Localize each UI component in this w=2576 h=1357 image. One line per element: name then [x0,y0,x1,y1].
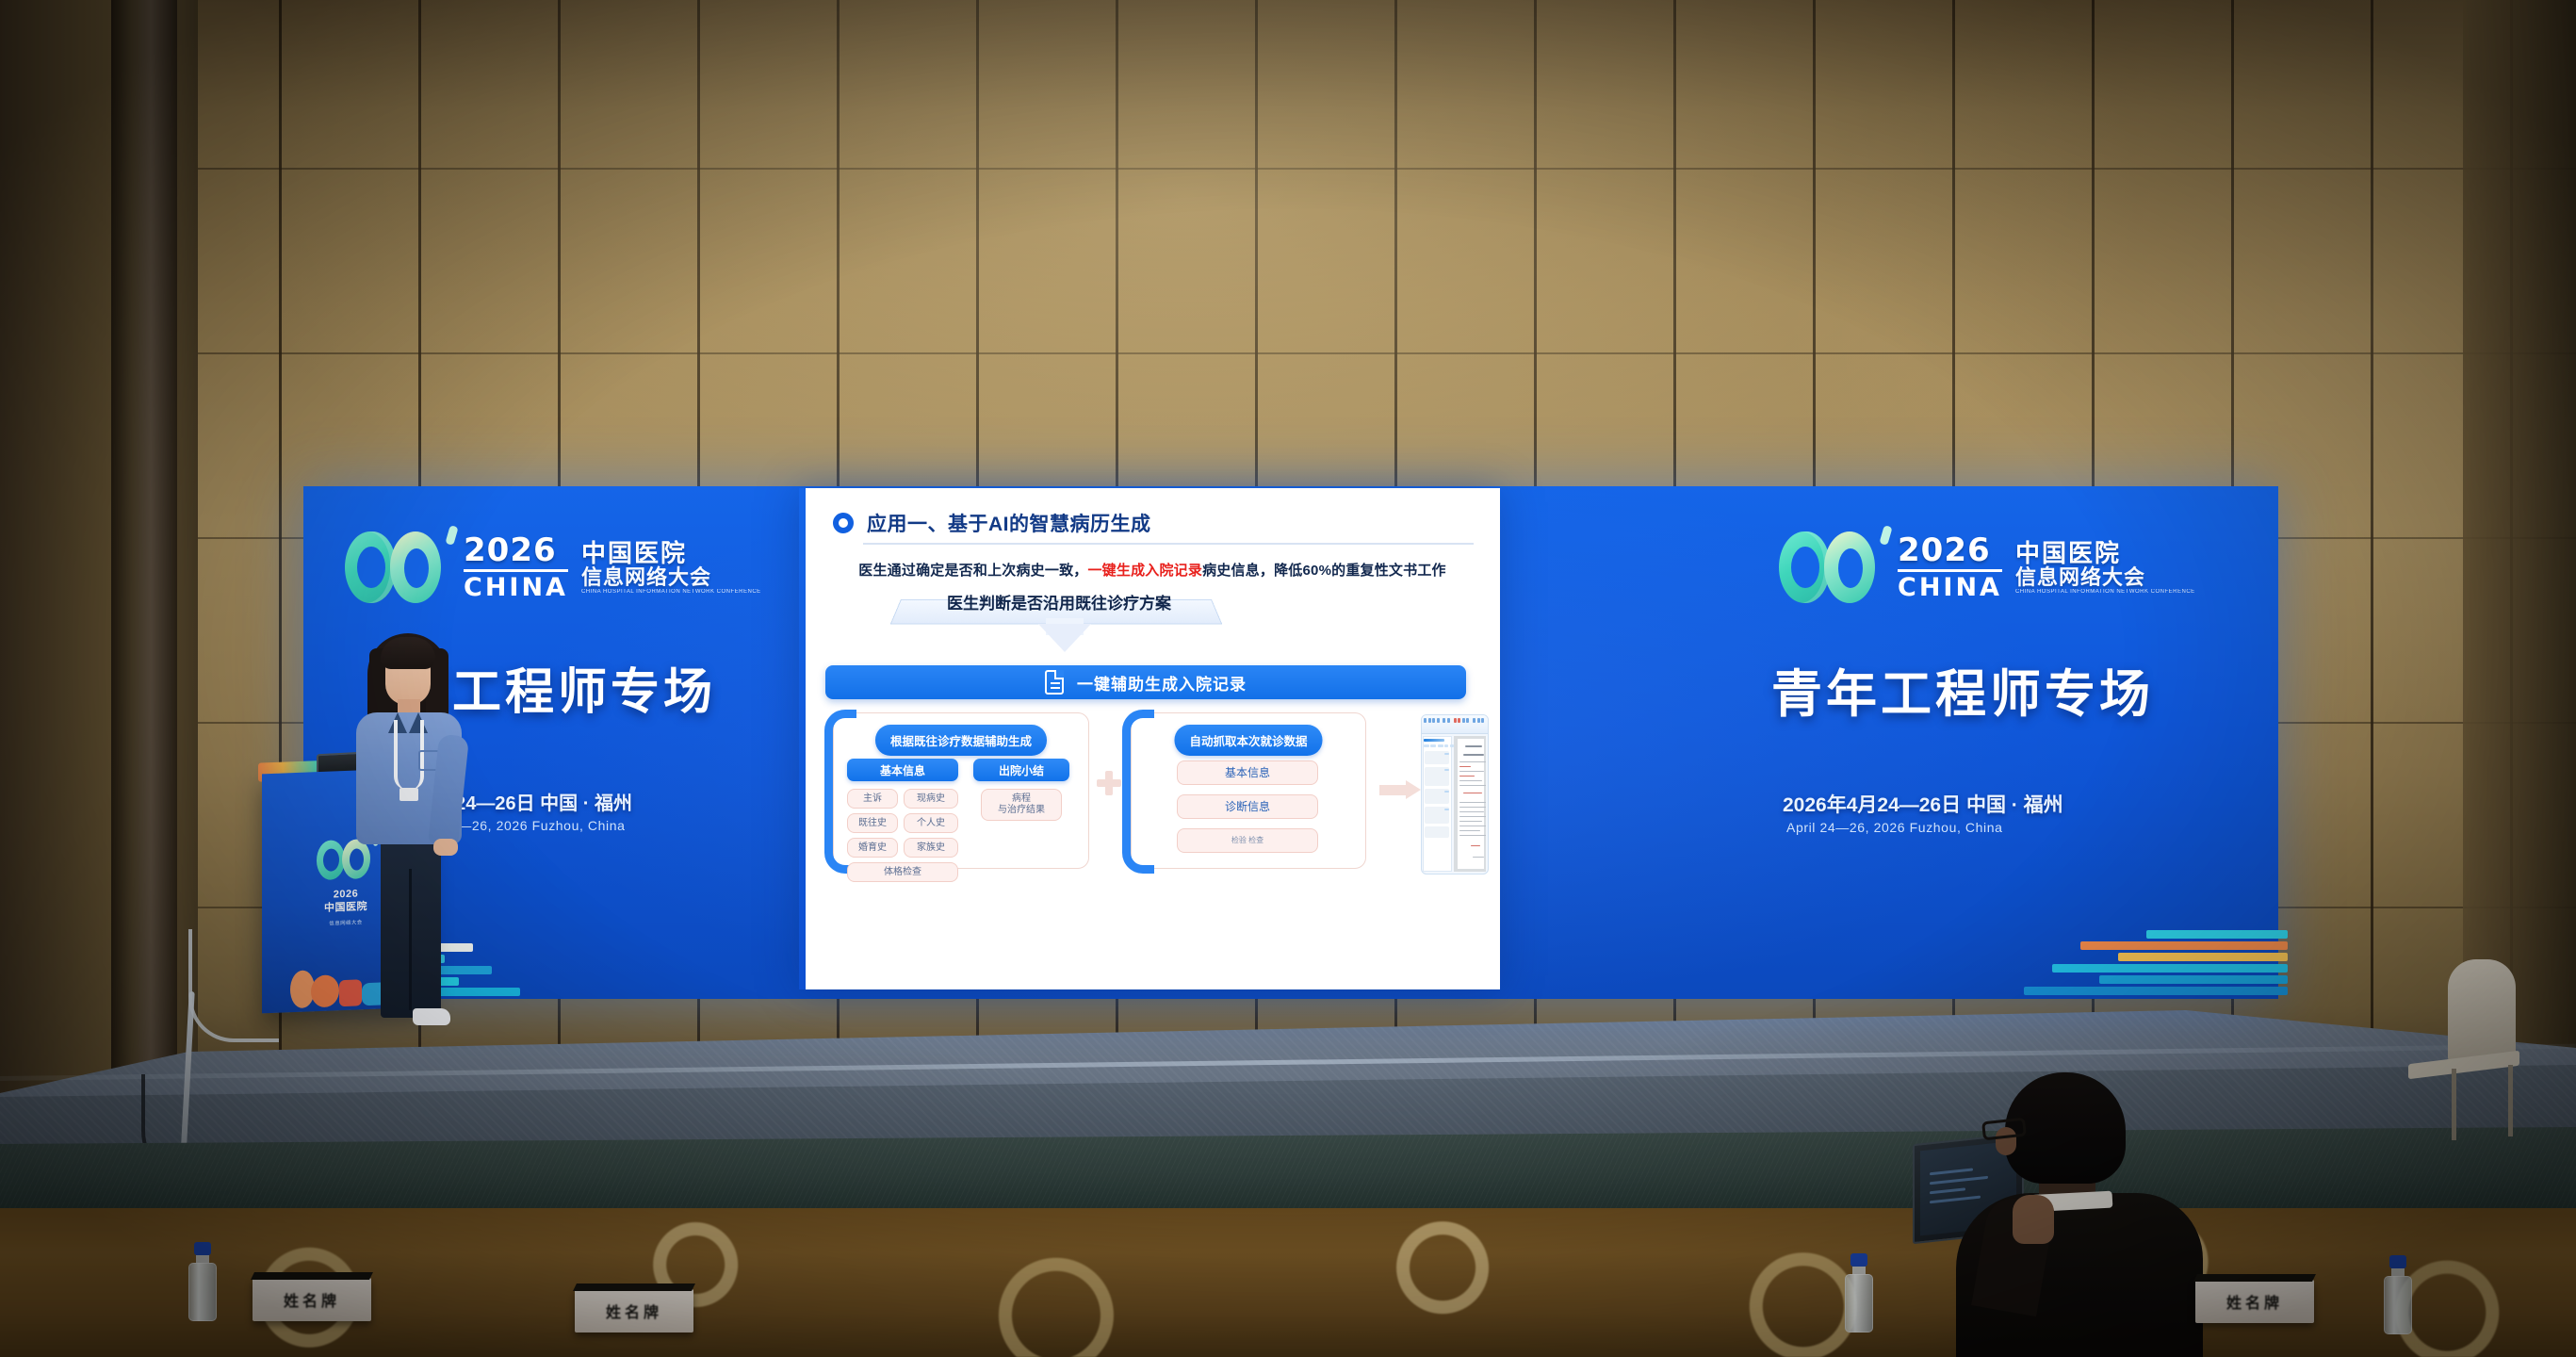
banner-right-date-en: April 24—26, 2026 Fuzhou, China [1786,820,2003,835]
item-lab-and-exam: 检验 检查 [1177,828,1318,853]
item-past-history: 既往史 [847,813,898,833]
subtitle-part-2: 病史信息，降低60%的重复性文书工作 [1202,563,1446,579]
bullet-ring-icon [833,513,854,533]
presentation-slide: 应用一、基于AI的智慧病历生成 医生通过确定是否和上次病史一致，一键生成入院记录… [799,488,1500,989]
screenshot-progress-bar [1424,739,1444,742]
presenter-hair-top [381,637,435,669]
presenter-hand [433,839,458,856]
item-present-illness: 现病史 [904,789,958,809]
card-historical-data: 根据既往诊疗数据辅助生成 基本信息 出院小结 主诉 现病史 既往史 个人史 婚育… [833,712,1089,869]
item-physical-exam: 体格检查 [847,862,958,882]
logo-cn-line3: CHINA HOSPITAL INFORMATION NETWORK CONFE… [2015,589,2195,595]
logo-country: CHINA [1898,569,2002,600]
item-marital-history: 婚育史 [847,838,898,858]
subtitle-highlight: 一键生成入院记录 [1087,563,1202,579]
logo-cn-line2: 信息网络大会 [581,566,761,589]
logo-year-block: 2026 CHINA [464,534,568,600]
decision-label: 医生判断是否沿用既往诊疗方案 [889,590,1229,613]
screenshot-toolbar [1422,715,1488,734]
card-a-title: 根据既往诊疗数据辅助生成 [875,725,1047,756]
subtitle-part-1: 医生通过确定是否和上次病史一致， [858,563,1087,579]
logo-year: 2026 [1898,534,2002,566]
banner-right-session-title: 青年工程师专场 [1771,652,2154,727]
item-course-and-outcome: 病程 与治疗结果 [981,789,1062,821]
logo-chinese-block: 中国医院 信息网络大会 CHINA HOSPITAL INFORMATION N… [581,540,761,595]
card-b-title: 自动抓取本次就诊数据 [1174,725,1322,756]
item-basic-info: 基本信息 [1177,760,1318,785]
flow-arrow-icon [1379,780,1421,799]
group-heading-basic-info: 基本信息 [847,759,958,781]
screenshot-message-5 [1425,826,1449,838]
attendee-hand [2013,1195,2054,1244]
logo-cn-line1: 中国医院 [581,540,761,566]
document-icon [1045,670,1064,695]
doc-title-line [1465,745,1482,747]
water-bottle [1845,1253,1873,1332]
name-card-text: 姓名牌 [284,1288,340,1311]
wall-right-dark-section [2463,0,2576,1093]
name-card: 姓名牌 [575,1289,693,1332]
water-bottle [2384,1255,2412,1334]
seated-attendee [1922,1065,2214,1357]
banner-right: 2026 CHINA 中国医院 信息网络大会 CHINA HOSPITAL IN… [1717,486,2278,999]
presenter-leg-split [409,869,412,1010]
slide-accent-bar [799,488,806,989]
logo-cn-line2: 信息网络大会 [2015,566,2195,589]
slide-title-rule [863,543,1474,545]
wall-pillar [111,0,177,1093]
screenshot-document-page [1458,739,1484,869]
logo-30-icon [345,526,450,609]
item-chief-complaint: 主诉 [847,789,898,809]
slide-header: 应用一、基于AI的智慧病历生成 [833,509,1151,537]
logo-country: CHINA [464,569,568,600]
name-card: 姓名牌 [2195,1280,2314,1323]
name-card: 姓名牌 [253,1278,371,1321]
banner-right-date-cn: 2026年4月24—26日 中国 · 福州 [1783,790,2063,818]
logo-30-icon [1779,526,1884,609]
item-personal-history: 个人史 [904,813,958,833]
name-card-text: 姓名牌 [606,1300,662,1322]
presenter-shoe [413,1008,450,1025]
cta-generate-record[interactable]: 一键辅助生成入院记录 [825,665,1466,699]
water-bottle [188,1242,217,1321]
toolbar-icon-group [1424,718,1489,723]
logo-cn-line1: 中国医院 [2015,540,2195,566]
logo-year-block: 2026 CHINA [1898,534,2002,600]
slide-subtitle: 医生通过确定是否和上次病史一致，一键生成入院记录病史信息，降低60%的重复性文书… [827,560,1477,580]
logo-cn-line3: CHINA HOSPITAL INFORMATION NETWORK CONFE… [581,589,761,595]
plus-connector-icon [1097,771,1121,795]
logo-year: 2026 [464,534,568,566]
conference-logo-left: 2026 CHINA 中国医院 信息网络大会 CHINA HOSPITAL IN… [345,526,761,609]
folding-chair [2408,959,2521,1129]
presenter-person [347,633,469,1037]
conference-logo-right: 2026 CHINA 中国医院 信息网络大会 CHINA HOSPITAL IN… [1779,526,2195,609]
software-screenshot-mock [1421,714,1489,875]
decision-arrow-icon [1038,624,1091,652]
card-current-visit-data: 自动抓取本次就诊数据 基本信息 诊断信息 检验 检查 [1131,712,1366,869]
podium-mic-arm [188,929,279,1042]
item-diagnosis-info: 诊断信息 [1177,794,1318,819]
conference-photo-scene: 2026 CHINA 中国医院 信息网络大会 CHINA HOSPITAL IN… [0,0,2576,1357]
logo-chinese-block: 中国医院 信息网络大会 CHINA HOSPITAL INFORMATION N… [2015,540,2195,595]
group-heading-discharge-summary: 出院小结 [973,759,1069,781]
led-stripes-right [1717,924,2278,999]
item-family-history: 家族史 [904,838,958,858]
presenter-badge [399,788,418,801]
name-card-text: 姓名牌 [2226,1290,2283,1313]
slide-title: 应用一、基于AI的智慧病历生成 [867,509,1151,537]
cta-label: 一键辅助生成入院记录 [1077,671,1247,695]
doc-subtitle-line [1463,754,1484,756]
screenshot-filter-chips [1424,744,1454,747]
